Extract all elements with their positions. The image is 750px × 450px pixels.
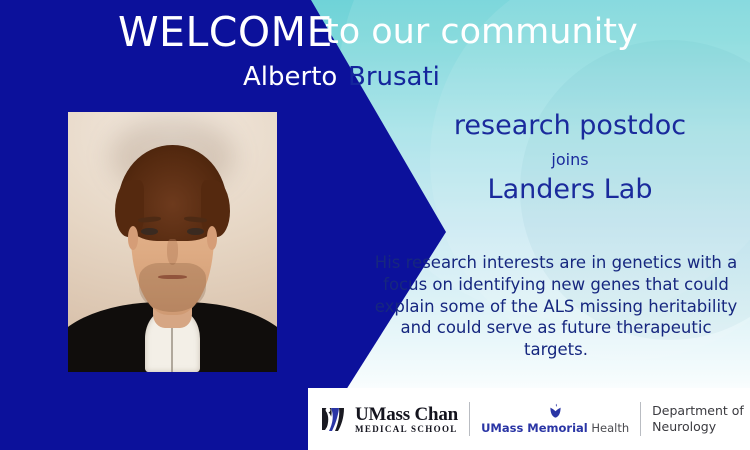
chan-shield-icon (320, 404, 350, 434)
memorial-logo-wrap: UMass Memorial Health (481, 403, 629, 435)
tulip-icon (547, 403, 564, 420)
welcome-heading: WELCOME (118, 8, 333, 56)
welcome-announcement-poster: WELCOME to our community Alberto Brusati… (0, 0, 750, 450)
memorial-name-light: Health (588, 421, 629, 435)
portrait-mouth (158, 275, 187, 279)
person-last-name: Brusati (348, 62, 440, 92)
welcome-subheading: to our community (325, 12, 638, 52)
logo-department-neurology: Department of Neurology (652, 399, 744, 439)
memorial-name-bold: UMass Memorial (481, 421, 588, 435)
portrait-nose (167, 239, 177, 265)
logo-umass-memorial-health: UMass Memorial Health (481, 399, 629, 439)
portrait-beard (139, 263, 206, 312)
person-first-name: Alberto (243, 62, 337, 92)
joins-label: joins (420, 150, 720, 169)
memorial-text-block: UMass Memorial Health (481, 423, 629, 435)
department-line-2: Neurology (652, 419, 744, 435)
chan-text-block: UMass Chan MEDICAL SCHOOL (355, 405, 458, 434)
department-text-block: Department of Neurology (652, 403, 744, 435)
logo-divider (469, 402, 470, 436)
bio-paragraph: His research interests are in genetics w… (368, 252, 744, 361)
chan-subtitle: MEDICAL SCHOOL (355, 425, 458, 434)
portrait-ear-left (128, 226, 138, 249)
chan-name: UMass Chan (355, 405, 458, 424)
role-title: research postdoc (420, 110, 720, 141)
lab-name: Landers Lab (420, 174, 720, 205)
footer-logo-row: UMass Chan MEDICAL SCHOOL UMass Memorial… (320, 388, 750, 450)
portrait-photo (68, 112, 277, 372)
logo-divider (640, 402, 641, 436)
logo-umass-chan: UMass Chan MEDICAL SCHOOL (320, 399, 458, 439)
department-line-1: Department of (652, 403, 744, 419)
